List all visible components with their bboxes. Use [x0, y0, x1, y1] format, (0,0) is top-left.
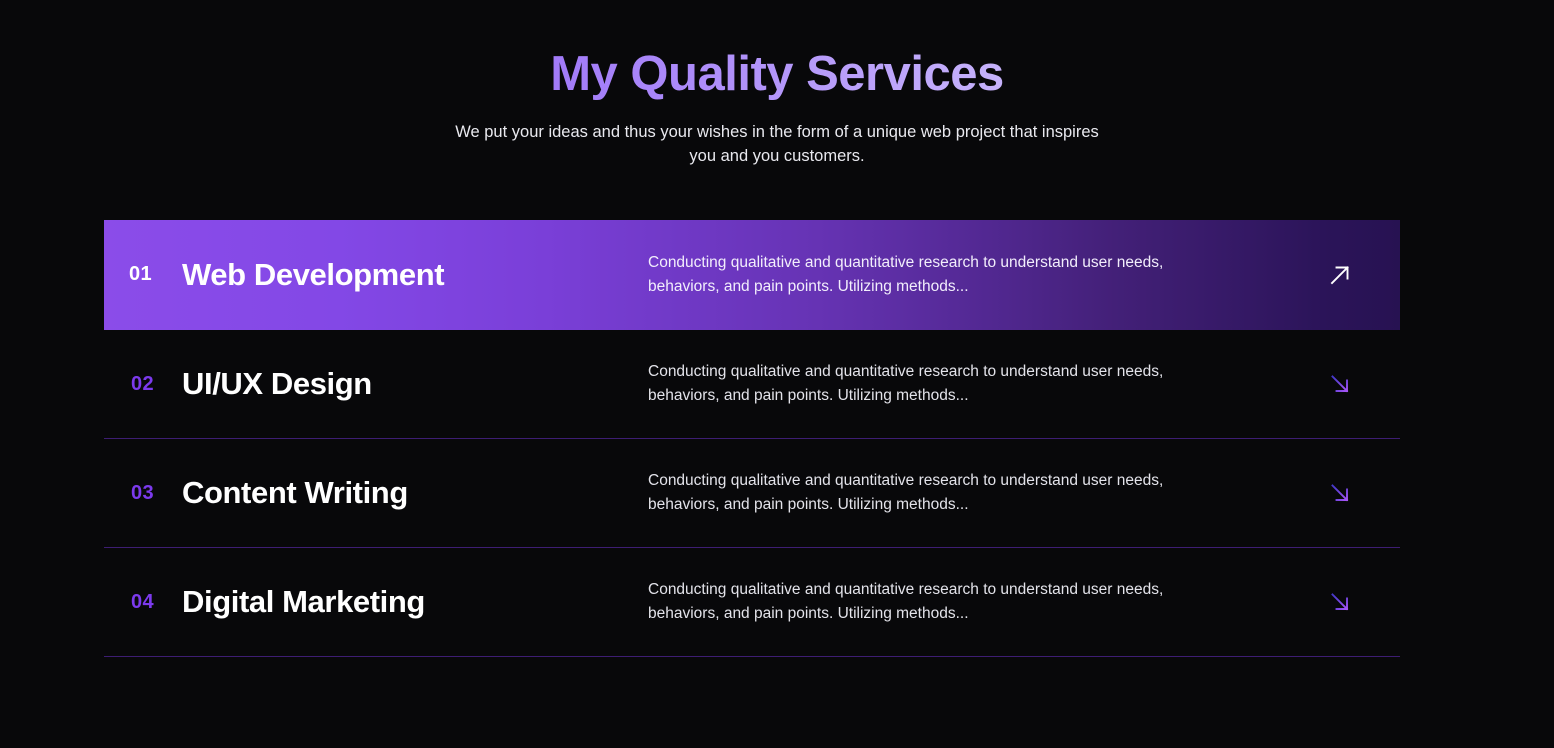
service-title: UI/UX Design	[182, 366, 642, 402]
service-index: 02	[104, 373, 182, 396]
service-index: 01	[104, 263, 182, 286]
services-page: My Quality Services We put your ideas an…	[0, 0, 1554, 748]
service-row[interactable]: 04 Digital Marketing Conducting qualitat…	[104, 548, 1400, 657]
service-row[interactable]: 01 Web Development Conducting qualitativ…	[104, 220, 1400, 330]
service-row[interactable]: 02 UI/UX Design Conducting qualitative a…	[104, 330, 1400, 439]
service-index: 03	[104, 482, 182, 505]
service-index: 04	[104, 591, 182, 614]
service-title: Digital Marketing	[182, 584, 642, 620]
service-description: Conducting qualitative and quantitative …	[648, 578, 1178, 626]
arrow-up-right-icon[interactable]	[1280, 260, 1400, 290]
service-row[interactable]: 03 Content Writing Conducting qualitativ…	[104, 439, 1400, 548]
page-subtitle: We put your ideas and thus your wishes i…	[447, 120, 1107, 168]
arrow-down-right-icon[interactable]	[1280, 478, 1400, 508]
services-list: 01 Web Development Conducting qualitativ…	[104, 220, 1400, 657]
service-description: Conducting qualitative and quantitative …	[648, 360, 1178, 408]
service-title: Content Writing	[182, 475, 642, 511]
service-description: Conducting qualitative and quantitative …	[648, 251, 1178, 299]
arrow-down-right-icon[interactable]	[1280, 587, 1400, 617]
service-title: Web Development	[182, 257, 642, 293]
page-title: My Quality Services	[0, 46, 1554, 103]
service-description: Conducting qualitative and quantitative …	[648, 469, 1178, 517]
page-header: My Quality Services We put your ideas an…	[0, 0, 1554, 168]
arrow-down-right-icon[interactable]	[1280, 369, 1400, 399]
